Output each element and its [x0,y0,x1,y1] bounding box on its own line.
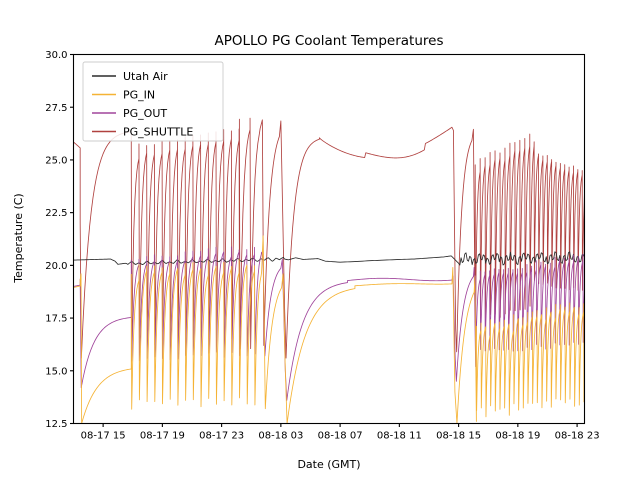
x-tick-label: 08-18 19 [495,431,540,442]
y-tick-label: 25.0 [45,156,67,167]
x-tick-label: 08-18 07 [318,431,363,442]
legend-label-pg-in: PG_IN [123,89,155,102]
y-axis-title: Temperature (C) [12,193,25,283]
x-tick-label: 08-17 19 [140,431,185,442]
chart-canvas: APOLLO PG Coolant Temperatures 12.515.01… [0,0,640,480]
y-tick-label: 22.5 [45,208,67,219]
chart-figure: APOLLO PG Coolant Temperatures 12.515.01… [0,0,640,480]
y-tick-label: 17.5 [45,314,67,325]
x-tick-label: 08-18 11 [377,431,422,442]
y-tick-label: 27.5 [45,103,67,114]
x-tick-label: 08-18 03 [258,431,303,442]
legend-label-pg-shuttle: PG_SHUTTLE [123,126,193,139]
x-axis-title: Date (GMT) [297,458,360,471]
y-tick-label: 20.0 [45,261,67,272]
y-tick-label: 15.0 [45,366,67,377]
legend-label-pg-out: PG_OUT [123,107,167,120]
y-tick-label: 12.5 [45,419,67,430]
x-tick-label: 08-17 15 [81,431,126,442]
legend-label-utah-air: Utah Air [123,70,168,83]
y-tick-label: 30.0 [45,50,67,61]
x-tick-label: 08-17 23 [199,431,244,442]
x-tick-label: 08-18 23 [555,431,600,442]
x-tick-label: 08-18 15 [436,431,481,442]
chart-legend[interactable]: Utah AirPG_INPG_OUTPG_SHUTTLE [83,62,223,141]
chart-title: APOLLO PG Coolant Temperatures [214,33,443,49]
